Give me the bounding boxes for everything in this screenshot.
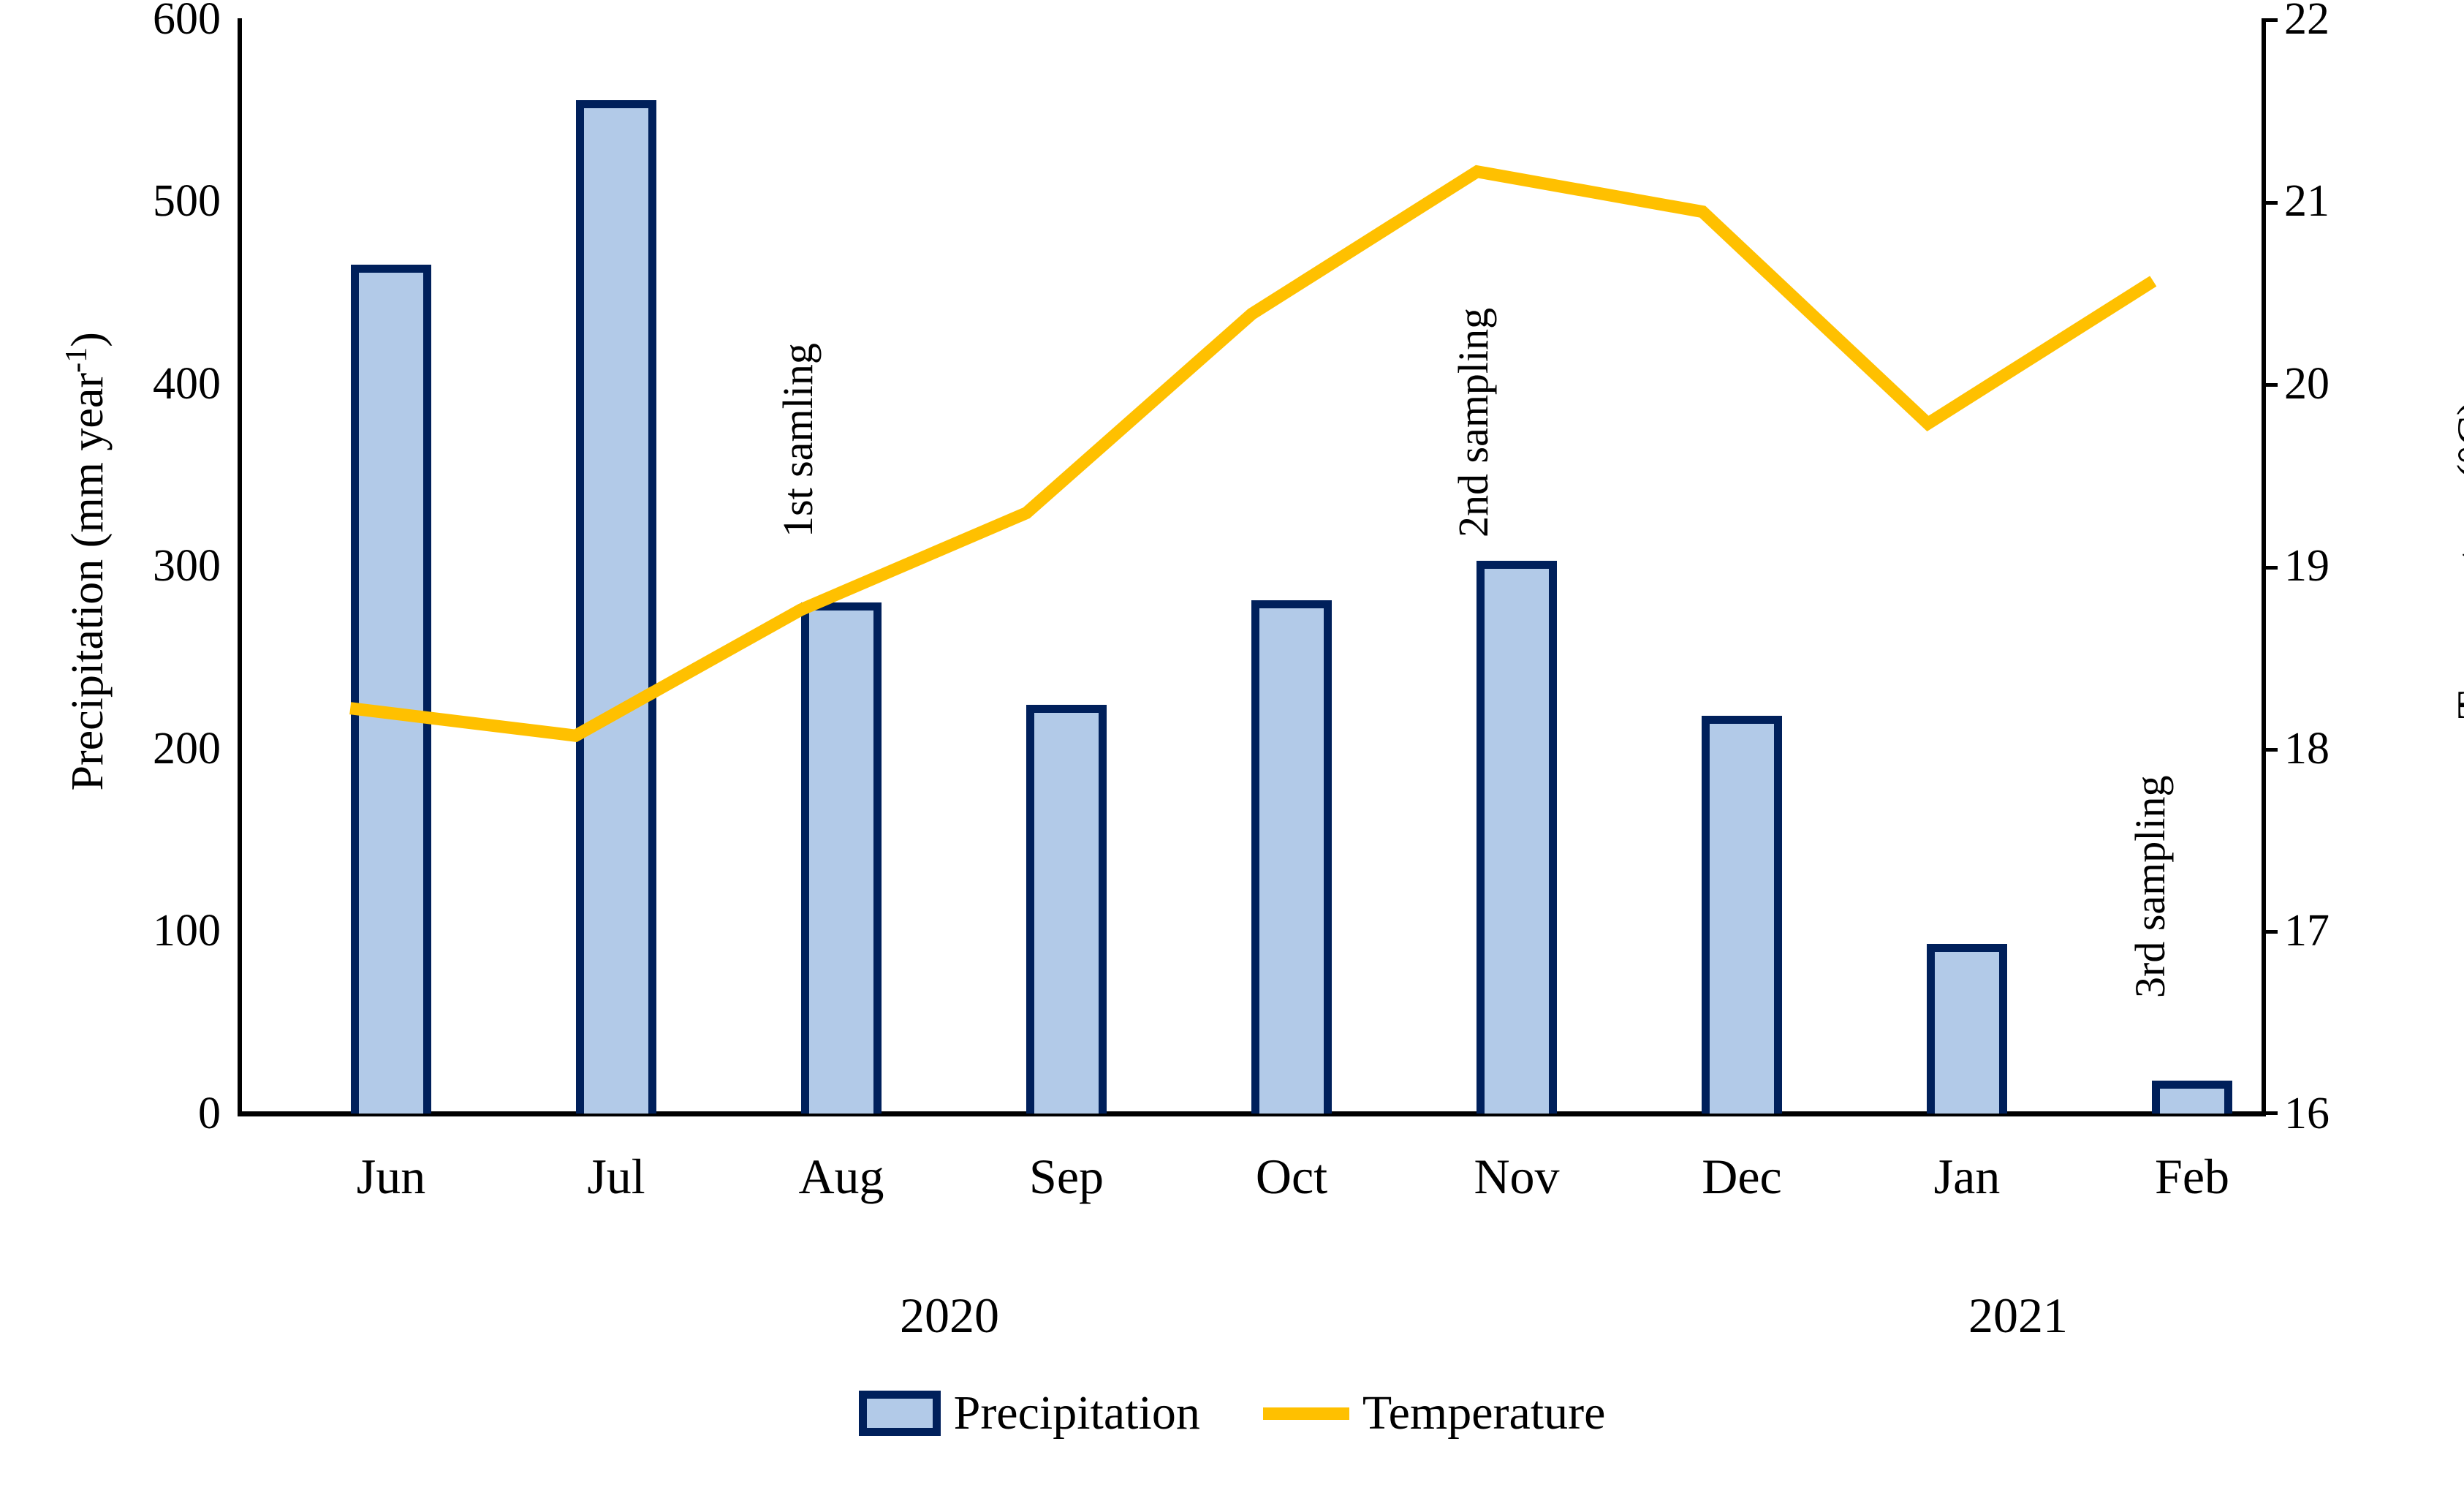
- x-tick-label-sep: Sep: [957, 1148, 1176, 1206]
- y-tick-right-17: 17: [2284, 908, 2330, 953]
- temperature-line[interactable]: [350, 172, 2153, 736]
- legend-item-precipitation[interactable]: Precipitation: [859, 1389, 1200, 1437]
- temperature-line-chart: [238, 18, 2266, 1114]
- y-tick-right-19: 19: [2284, 543, 2330, 589]
- chart-canvas: Precipitation (mm year-1) Temperature (°…: [0, 0, 2464, 1512]
- y-tick-left-200: 200: [153, 726, 221, 771]
- x-tick-label-nov: Nov: [1407, 1148, 1626, 1206]
- x-group-label-2020: 2020: [803, 1287, 1096, 1345]
- x-tick-label-dec: Dec: [1632, 1148, 1851, 1206]
- x-tick-label-jul: Jul: [507, 1148, 726, 1206]
- x-tick-label-oct: Oct: [1182, 1148, 1401, 1206]
- y-tick-right-21: 21: [2284, 178, 2330, 224]
- annotation-3rd-sampling: 3rd sampling: [2126, 776, 2175, 998]
- y-tick-left-500: 500: [153, 178, 221, 224]
- bar-swatch-icon: [859, 1391, 941, 1436]
- x-group-label-2021: 2021: [1872, 1287, 2164, 1345]
- x-tick-label-jun: Jun: [281, 1148, 501, 1206]
- y-tick-left-400: 400: [153, 361, 221, 407]
- y-axis-left-title: Precipitation (mm year-1): [58, 247, 114, 876]
- y-tick-right-18: 18: [2284, 726, 2330, 771]
- y-tick-right-16: 16: [2284, 1091, 2330, 1136]
- legend-label-temperature: Temperature: [1362, 1389, 1606, 1437]
- x-tick-label-feb: Feb: [2082, 1148, 2302, 1206]
- plot-area: [238, 18, 2266, 1114]
- x-tick-label-aug: Aug: [732, 1148, 951, 1206]
- x-tick-label-jan: Jan: [1857, 1148, 2077, 1206]
- y-axis-left-title-tail: ): [63, 332, 113, 347]
- y-tick-left-0: 0: [198, 1091, 221, 1136]
- legend-item-temperature[interactable]: Temperature: [1263, 1389, 1606, 1437]
- y-tick-left-100: 100: [153, 908, 221, 953]
- legend: Precipitation Temperature: [0, 1389, 2464, 1437]
- legend-label-precipitation: Precipitation: [954, 1389, 1200, 1437]
- y-tick-left-300: 300: [153, 543, 221, 589]
- y-axis-left-title-superscript: -1: [59, 347, 94, 373]
- annotation-2nd-sampling: 2nd sampling: [1449, 308, 1498, 537]
- y-axis-right-title: Temperature (°C): [2449, 246, 2464, 874]
- y-axis-left-title-main: Precipitation (mm year: [63, 373, 113, 791]
- line-swatch-icon: [1263, 1407, 1349, 1420]
- y-tick-right-20: 20: [2284, 361, 2330, 407]
- y-tick-left-600: 600: [153, 0, 221, 42]
- annotation-1st-sampling: 1st samling: [773, 343, 822, 537]
- y-tick-right-22: 22: [2284, 0, 2330, 42]
